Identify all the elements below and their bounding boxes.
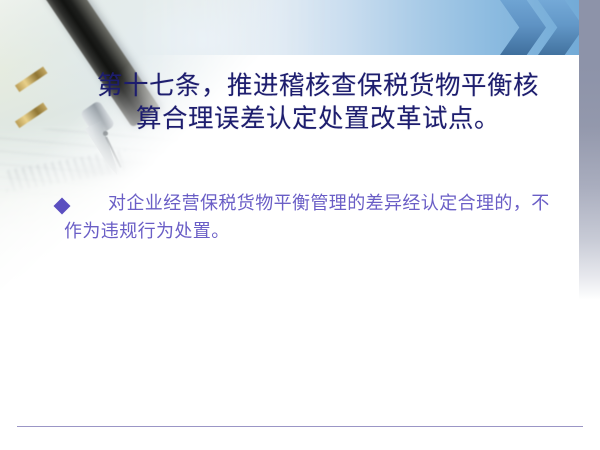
slide-body: 对企业经营保税货物平衡管理的差异经认定合理的，不作为违规行为处置。 (46, 190, 554, 246)
right-accent-column (579, 0, 600, 300)
slide-title-line-1: 第十七条，推进稽核查保税货物平衡核 (64, 70, 572, 103)
presentation-slide: 第十七条，推进稽核查保税货物平衡核 算合理误差认定处置改革试点。 对企业经营保税… (0, 0, 600, 450)
slide-title: 第十七条，推进稽核查保税货物平衡核 算合理误差认定处置改革试点。 (64, 70, 572, 136)
slide-title-line-2: 算合理误差认定处置改革试点。 (64, 103, 572, 136)
footer-divider (17, 426, 583, 427)
bullet-item-text: 对企业经营保税货物平衡管理的差异经认定合理的，不作为违规行为处置。 (46, 190, 554, 246)
bullet-list-item: 对企业经营保税货物平衡管理的差异经认定合理的，不作为违规行为处置。 (46, 190, 554, 246)
